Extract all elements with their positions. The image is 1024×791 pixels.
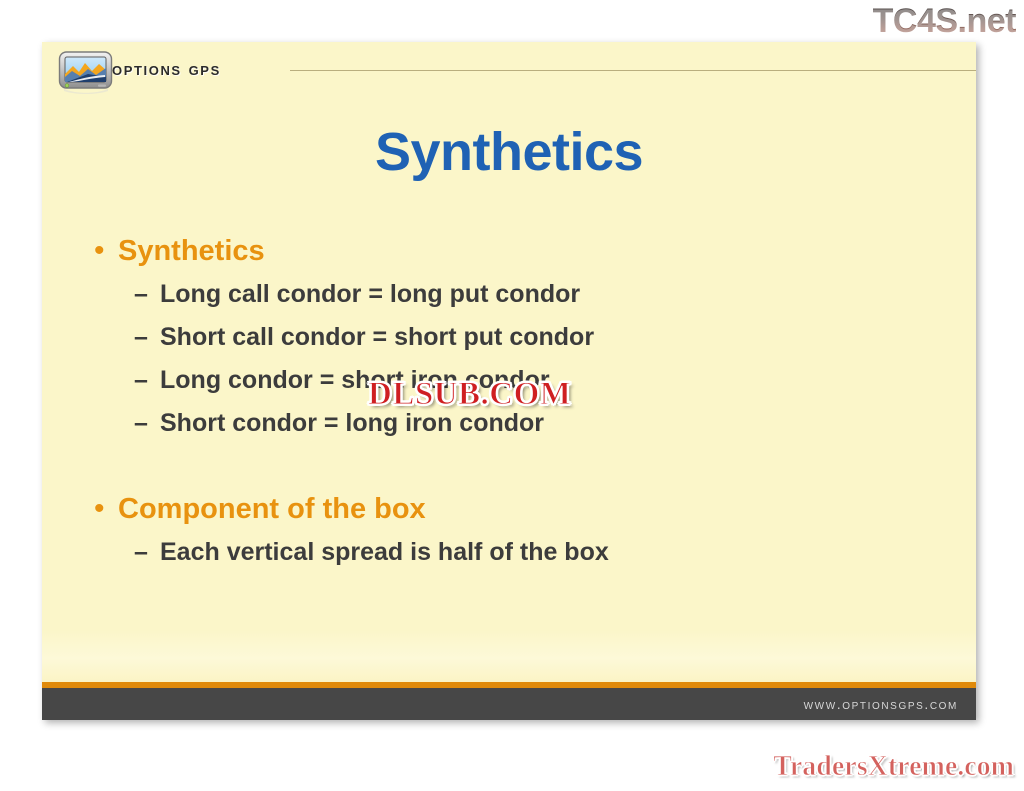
- bullet-level1: • Synthetics: [88, 232, 946, 270]
- bullet-level1-label: Synthetics: [118, 232, 265, 270]
- dash-icon: –: [134, 317, 160, 358]
- bullet-level2-label: Short call condor = short put condor: [160, 317, 594, 358]
- options-gps-brand-label: Options GPS: [112, 59, 221, 81]
- gps-device-icon: [58, 50, 114, 94]
- header-divider: [290, 70, 976, 71]
- footer-website-url: www.OptionsGPS.com: [804, 696, 958, 712]
- dash-icon: –: [134, 274, 160, 315]
- dash-icon: –: [134, 403, 160, 444]
- bullet-level1-label: Component of the box: [118, 490, 426, 528]
- dlsub-watermark: DLSUB.COM: [368, 376, 571, 412]
- dash-icon: –: [134, 532, 160, 573]
- bullet-level2: – Long call condor = long put condor: [88, 274, 946, 315]
- bullet-level2: – Short call condor = short put condor: [88, 317, 946, 358]
- bullet-level1: • Component of the box: [88, 490, 946, 528]
- bullet-level2-label: Each vertical spread is half of the box: [160, 532, 609, 573]
- tradersxtreme-brand: TradersXtreme.com: [773, 751, 1014, 783]
- dash-icon: –: [134, 360, 160, 401]
- slide-header: Options GPS: [42, 42, 976, 100]
- bullet-dot-icon: •: [88, 490, 118, 528]
- bullet-level2: – Each vertical spread is half of the bo…: [88, 532, 946, 573]
- slide-title: Synthetics: [42, 122, 976, 182]
- tc4s-site-brand: TC4S.net: [873, 2, 1016, 40]
- footer-gradient: [42, 630, 976, 682]
- bullet-level2-label: Long call condor = long put condor: [160, 274, 580, 315]
- bullet-group-spacer: [88, 446, 946, 490]
- slide-footer: www.OptionsGPS.com: [42, 688, 976, 720]
- bullet-dot-icon: •: [88, 232, 118, 270]
